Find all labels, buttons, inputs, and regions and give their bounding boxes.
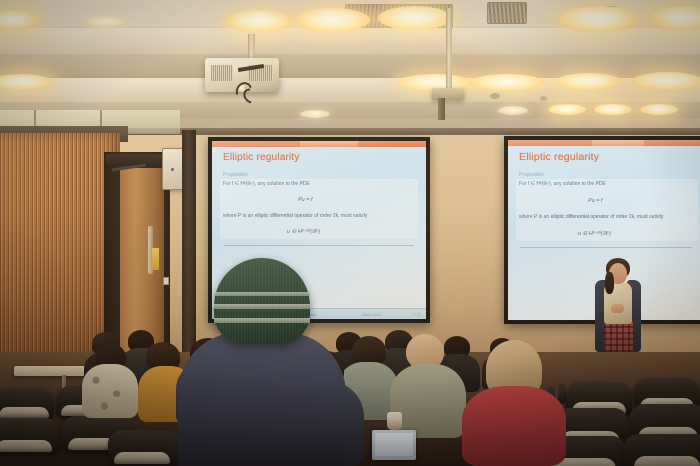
- sprinkler-icon: [490, 93, 500, 99]
- laptop-screen: [375, 433, 413, 456]
- projector-pole-2: [446, 8, 452, 92]
- side-table: [14, 366, 86, 376]
- slide-topbar-highlight: [592, 140, 644, 146]
- slide-equation-1: Pu = f: [588, 198, 603, 204]
- slide-topbar-highlight: [300, 141, 358, 147]
- sprinkler-icon: [540, 96, 547, 101]
- slide-line-1: For f ∈ Hᵏ(ℝⁿ), any solution to the PDE: [223, 181, 310, 187]
- presenter-hair-side: [605, 272, 614, 294]
- slide-footer-right: March 2023: [362, 313, 381, 317]
- slide-proposition-label: Proposition: [519, 172, 544, 178]
- slide-line-2: where P is an elliptic differential oper…: [519, 214, 663, 220]
- ceiling-light-icon: [594, 104, 632, 115]
- auditorium-seat[interactable]: [108, 430, 180, 466]
- ceiling-light-icon-dim: [300, 110, 330, 118]
- projector-mount-2: [432, 88, 464, 100]
- ceiling-light-icon: [558, 6, 638, 32]
- wall-sign: [152, 248, 159, 270]
- slide-page-number: 7 / 21: [412, 313, 421, 317]
- ceiling-light-icon: [0, 10, 38, 30]
- ceiling-light-icon: [548, 104, 586, 115]
- presenter-hands: [611, 304, 624, 313]
- ceiling-vent-icon-2: [487, 2, 527, 24]
- ceiling-light-icon: [640, 104, 678, 115]
- slide-equation-1: Pu = f: [298, 197, 313, 203]
- ceiling-light-icon: [632, 72, 700, 90]
- ceiling-light-icon: [296, 8, 370, 32]
- ceiling-light-icon-dim: [498, 106, 528, 115]
- ceiling-light-icon: [556, 73, 622, 90]
- slide-equation-2: u ∈ Hᵏ⁺²ᵏ(ℝⁿ): [578, 231, 611, 237]
- projector-stem-2: [438, 98, 445, 120]
- wall-outlet-icon: [163, 277, 169, 285]
- ceiling-light-icon: [226, 10, 292, 32]
- slide-equation-2: u ∈ Hᵏ⁺²ᵏ(ℝⁿ): [287, 229, 320, 235]
- slide-line-2: where P is an elliptic differential oper…: [223, 213, 367, 219]
- slide-divider: [224, 245, 414, 246]
- wall-box-indicator-icon: [171, 168, 174, 171]
- slide-divider: [520, 247, 692, 248]
- auditorium-seat[interactable]: [0, 418, 60, 454]
- wood-slat-wall: [0, 133, 120, 361]
- ceiling-light-icon: [378, 6, 452, 30]
- lecture-hall-photo: Elliptic regularity Proposition For f ∈ …: [0, 0, 700, 466]
- slide-proposition-label: Proposition: [223, 172, 248, 178]
- ceiling-light-icon: [650, 6, 700, 30]
- slide-line-1: For f ∈ Hᵏ(ℝⁿ), any solution to the PDE: [519, 181, 606, 187]
- beanie-person-body: [178, 332, 346, 466]
- auditorium-seat[interactable]: [624, 434, 700, 466]
- slide-title: Elliptic regularity: [519, 151, 599, 163]
- auditorium-seat[interactable]: [0, 388, 54, 420]
- slide-title: Elliptic regularity: [223, 152, 300, 163]
- knit-beanie-hat: [214, 258, 310, 344]
- wall-pillar: [182, 130, 196, 362]
- ceiling-light-icon-dim: [84, 16, 128, 28]
- coffee-cup: [387, 412, 402, 430]
- ceiling-light-icon: [470, 74, 544, 91]
